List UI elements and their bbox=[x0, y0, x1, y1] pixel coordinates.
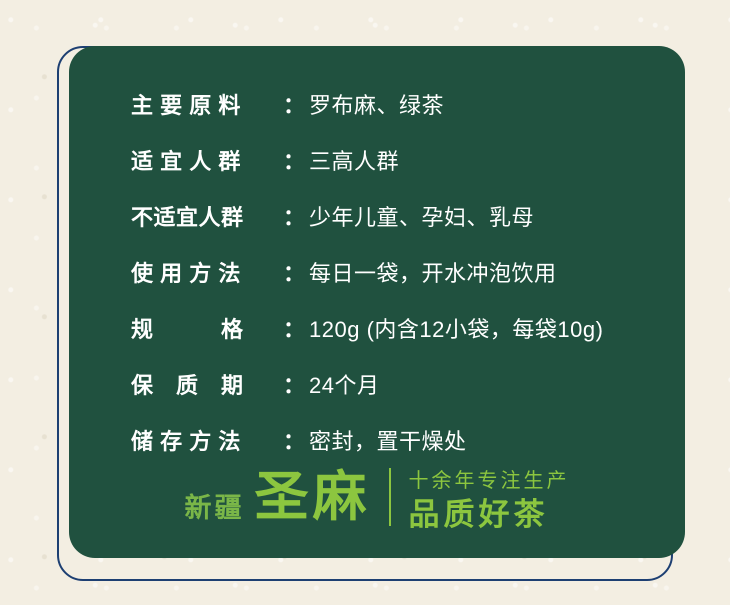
spec-row-usage: 使 用 方 法 ： 每日一袋，开水冲泡饮用 bbox=[131, 256, 661, 288]
spec-row-storage: 储 存 方 法 ： 密封，置干燥处 bbox=[131, 424, 661, 456]
spec-label: 保 质 期 bbox=[131, 368, 283, 400]
spec-label: 储 存 方 法 bbox=[131, 424, 283, 456]
spec-value: 罗布麻、绿茶 bbox=[309, 88, 444, 120]
spec-label: 规 格 bbox=[131, 312, 283, 344]
spec-label: 主 要 原 料 bbox=[131, 88, 283, 120]
spec-row-suitable-group: 适 宜 人 群 ： 三高人群 bbox=[131, 144, 661, 176]
spec-row-unsuitable-group: 不适宜人群 ： 少年儿童、孕妇、乳母 bbox=[131, 200, 661, 232]
brand-name: 圣麻 bbox=[255, 470, 371, 524]
spec-value: 每日一袋，开水冲泡饮用 bbox=[309, 256, 557, 288]
brand-lockup: 新疆 圣麻 十余年专注生产 品质好茶 bbox=[69, 464, 685, 530]
spec-value: 少年儿童、孕妇、乳母 bbox=[309, 200, 534, 232]
brand-slogan-top: 十余年专注生产 bbox=[409, 464, 570, 493]
spec-list: 主 要 原 料 ： 罗布麻、绿茶 适 宜 人 群 ： 三高人群 不适宜人群 ： … bbox=[131, 88, 661, 480]
spec-value: 120g (内含12小袋，每袋10g) bbox=[309, 312, 603, 344]
brand-slogan: 十余年专注生产 品质好茶 bbox=[409, 464, 570, 530]
spec-colon: ： bbox=[283, 312, 305, 344]
spec-label: 不适宜人群 bbox=[131, 200, 283, 232]
spec-row-specification: 规 格 ： 120g (内含12小袋，每袋10g) bbox=[131, 312, 661, 344]
spec-colon: ： bbox=[283, 144, 305, 176]
brand-slogan-bottom: 品质好茶 bbox=[409, 499, 570, 530]
spec-value: 密封，置干燥处 bbox=[309, 424, 467, 456]
spec-row-main-ingredients: 主 要 原 料 ： 罗布麻、绿茶 bbox=[131, 88, 661, 120]
spec-label: 适 宜 人 群 bbox=[131, 144, 283, 176]
spec-row-shelf-life: 保 质 期 ： 24个月 bbox=[131, 368, 661, 400]
spec-value: 24个月 bbox=[309, 368, 379, 400]
spec-colon: ： bbox=[283, 368, 305, 400]
spec-colon: ： bbox=[283, 424, 305, 456]
brand-region: 新疆 bbox=[185, 486, 245, 525]
spec-colon: ： bbox=[283, 200, 305, 232]
spec-label: 使 用 方 法 bbox=[131, 256, 283, 288]
spec-value: 三高人群 bbox=[309, 144, 399, 176]
spec-colon: ： bbox=[283, 256, 305, 288]
spec-colon: ： bbox=[283, 88, 305, 120]
product-spec-card: 主 要 原 料 ： 罗布麻、绿茶 适 宜 人 群 ： 三高人群 不适宜人群 ： … bbox=[69, 46, 685, 558]
brand-divider bbox=[389, 468, 391, 526]
